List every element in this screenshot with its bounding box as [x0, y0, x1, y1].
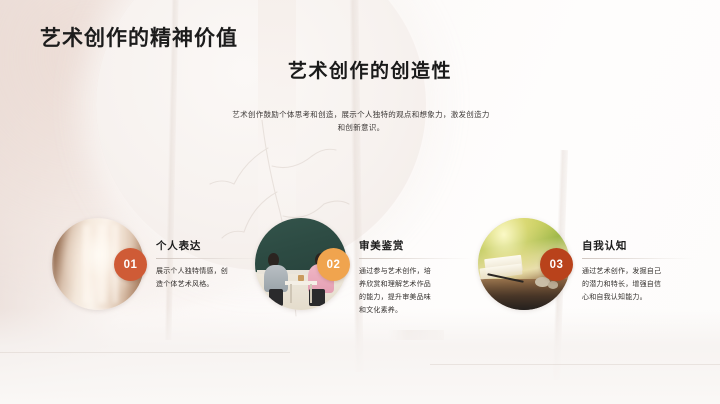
slide-main-title: 艺术创作的创造性	[170, 56, 570, 83]
slide-kicker-title: 艺术创作的精神价值	[40, 22, 238, 52]
item-heading-3: 自我认知	[582, 238, 627, 253]
item-badge-1: 01	[114, 248, 147, 281]
item-divider-2	[359, 258, 471, 259]
feature-item-3: 03 自我认知 通过艺术创作，发掘自己的潜力和特长，增强自信心和自我认知能力。	[478, 218, 698, 358]
item-divider-1	[156, 258, 268, 259]
item-body-3: 通过艺术创作，发掘自己的潜力和特长，增强自信心和自我认知能力。	[582, 266, 664, 305]
item-divider-3	[582, 258, 694, 259]
item-heading-1: 个人表达	[156, 238, 201, 253]
feature-item-2: 02 审美鉴赏 通过参与艺术创作，培养欣赏和理解艺术作品的能力，提升审美品味和文…	[255, 218, 475, 358]
feature-item-1: 01 个人表达 展示个人独特情感，创造个体艺术风格。	[52, 218, 272, 358]
item-heading-2: 审美鉴赏	[359, 238, 404, 253]
presentation-slide: 艺术创作的精神价值 艺术创作的创造性 艺术创作鼓励个体思考和创造，展示个人独特的…	[0, 0, 720, 404]
slide-main-description: 艺术创作鼓励个体思考和创造，展示个人独特的观点和想象力，激发创造力和创新意识。	[232, 108, 490, 134]
item-body-1: 展示个人独特情感，创造个体艺术风格。	[156, 266, 234, 292]
item-body-2: 通过参与艺术创作，培养欣赏和理解艺术作品的能力，提升审美品味和文化素养。	[359, 266, 437, 318]
item-badge-3: 03	[540, 248, 573, 281]
item-badge-2: 02	[317, 248, 350, 281]
